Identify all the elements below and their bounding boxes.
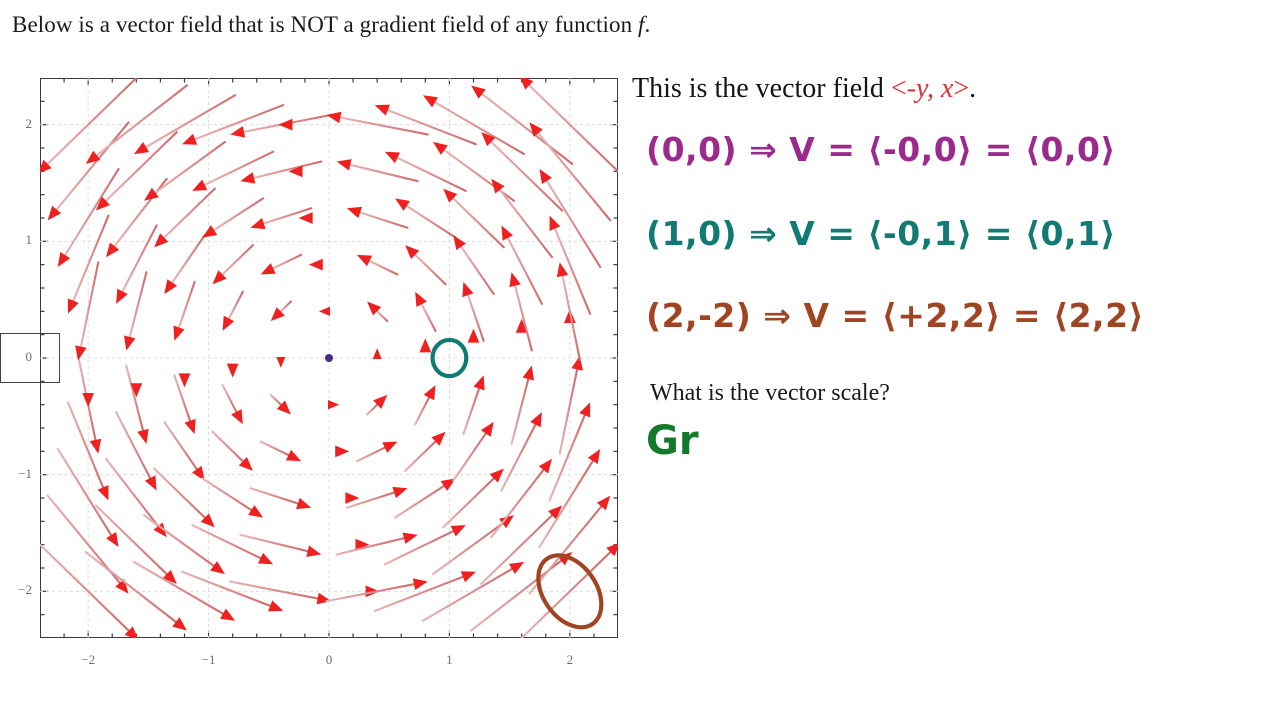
vector-field-sentence: This is the vector field <-y, x>.: [632, 74, 1280, 105]
x-tick-label--1: −1: [194, 652, 224, 668]
page-title: Below is a vector field that is NOT a gr…: [12, 12, 1262, 38]
handwritten-partial-answer: Gr: [646, 418, 699, 464]
handwritten-point-1-0-evaluation: (1,0) ⇒ V = ⟨-0,1⟩ = ⟨0,1⟩: [646, 214, 1116, 253]
page-title-before: Below is a vector field that is NOT a gr…: [12, 12, 638, 37]
y-tick-label--1: −1: [10, 466, 32, 482]
y-tick-label--2: −2: [10, 582, 32, 598]
page-title-after: .: [645, 12, 651, 37]
handwritten-point-2-neg2-evaluation: (2,-2) ⇒ V = ⟨+2,2⟩ = ⟨2,2⟩: [646, 296, 1144, 335]
x-tick-label-2: 2: [555, 652, 585, 668]
x-tick-label-1: 1: [434, 652, 464, 668]
vector-field-sentence-text: This is the vector field: [632, 73, 891, 104]
y-tick-label-2: 2: [10, 116, 32, 132]
x-tick-label-0: 0: [314, 652, 344, 668]
handwritten-origin-evaluation: (0,0) ⇒ V = ⟨-0,0⟩ = ⟨0,0⟩: [646, 130, 1116, 169]
plot-canvas: [40, 78, 618, 638]
right-panel: This is the vector field <-y, x>. (0,0) …: [632, 74, 1280, 105]
vector-field-sentence-period: .: [969, 73, 976, 104]
vector-scale-question: What is the vector scale?: [650, 380, 890, 407]
vector-field-plot[interactable]: −2−1012 −2−1012: [40, 78, 618, 638]
vector-field-expression: <-y, x>: [891, 73, 969, 104]
y-tick-label-1: 1: [10, 232, 32, 248]
y-axis-zero-label-selection[interactable]: [0, 333, 60, 383]
x-tick-label--2: −2: [73, 652, 103, 668]
